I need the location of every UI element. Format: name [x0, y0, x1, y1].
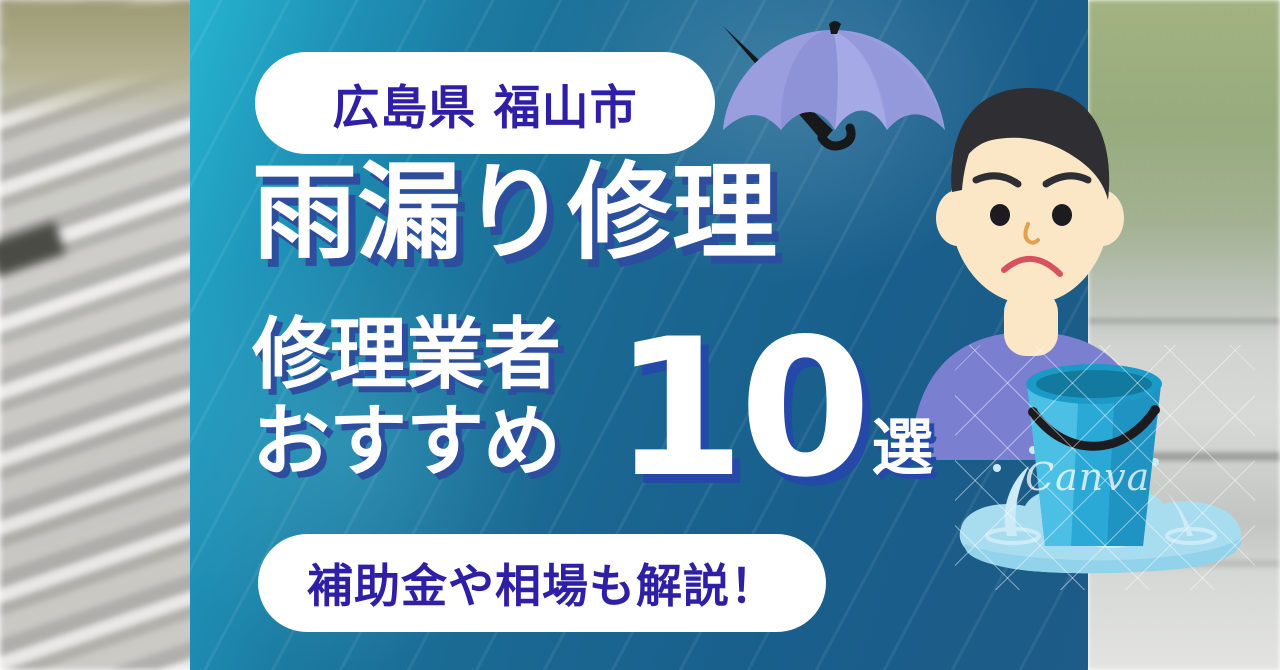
subheadline: 修理業者 おすすめ — [252, 312, 560, 487]
count-block: 10 選 — [613, 322, 933, 497]
footer-badge-label: 補助金や相場も解説！ — [307, 550, 777, 616]
leaking-bucket-icon — [955, 350, 1255, 585]
subheadline-line-2: おすすめ — [252, 399, 560, 486]
footer-badge: 補助金や相場も解説！ — [258, 534, 826, 632]
count-unit: 選 — [871, 417, 933, 479]
subheadline-line-1: 修理業者 — [252, 312, 560, 399]
banner-image: Canva 広島県 福山市 雨漏り修理 修理業者 おすすめ 10 選 補助金や相… — [0, 0, 1280, 670]
region-badge-label: 広島県 福山市 — [332, 69, 637, 138]
roof-dark-patch — [0, 221, 66, 277]
headline-text: 雨漏り修理 — [252, 160, 777, 267]
region-badge: 広島県 福山市 — [255, 52, 715, 154]
headline: 雨漏り修理 — [252, 160, 777, 267]
roof-tiles-photo — [0, 0, 200, 670]
count-number: 10 — [613, 322, 865, 497]
